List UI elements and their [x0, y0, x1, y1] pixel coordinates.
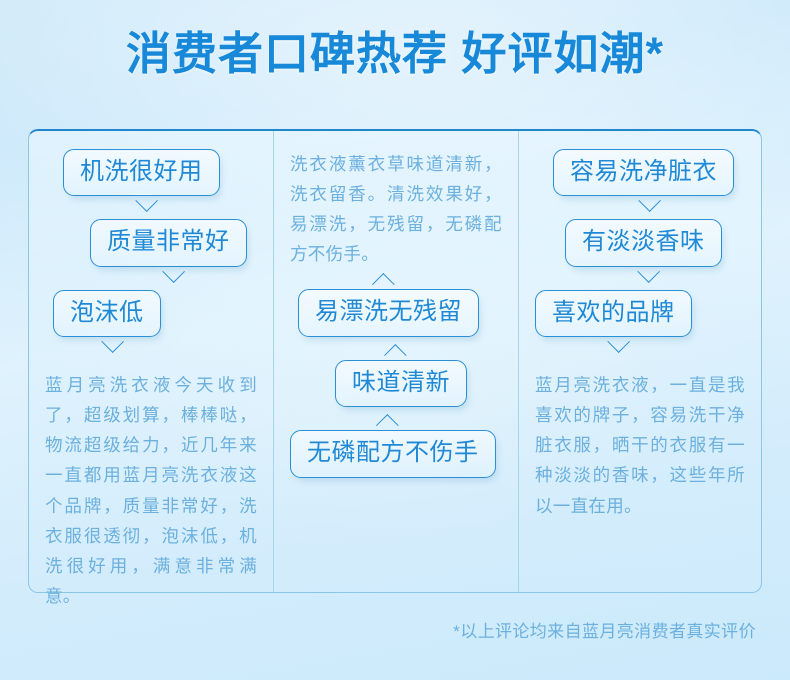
- footnote-disclaimer: *以上评论均来自蓝月亮消费者真实评价: [453, 617, 756, 642]
- page-title: 消费者口碑热荐 好评如潮*: [0, 0, 790, 82]
- review-tag-bubble[interactable]: 味道清新: [335, 360, 467, 407]
- reviews-panel: 机洗很好用 质量非常好 泡沫低 蓝月亮洗衣液今天收到了，超级划算，棒棒哒，物流超…: [28, 129, 762, 593]
- review-paragraph: 蓝月亮洗衣液，一直是我喜欢的牌子，容易洗干净脏衣服，晒干的衣服有一种淡淡的香味，…: [535, 370, 745, 520]
- review-paragraph: 洗衣液薰衣草味道清新，洗衣留香。清洗效果好，易漂洗，无残留，无磷配方不伤手。: [290, 149, 502, 269]
- review-tag-bubble[interactable]: 无磷配方不伤手: [290, 430, 496, 477]
- review-tag-bubble[interactable]: 喜欢的品牌: [535, 290, 692, 337]
- review-paragraph: 蓝月亮洗衣液今天收到了，超级划算，棒棒哒，物流超级给力，近几年来一直都用蓝月亮洗…: [45, 370, 257, 611]
- review-tag-bubble[interactable]: 机洗很好用: [63, 149, 220, 196]
- review-tag-bubble[interactable]: 易漂洗无残留: [298, 289, 479, 336]
- review-tag-bubble[interactable]: 有淡淡香味: [565, 219, 722, 266]
- review-column-right: 容易洗净脏衣 有淡淡香味 喜欢的品牌 蓝月亮洗衣液，一直是我喜欢的牌子，容易洗干…: [519, 131, 761, 592]
- review-column-middle: 洗衣液薰衣草味道清新，洗衣留香。清洗效果好，易漂洗，无残留，无磷配方不伤手。 易…: [273, 131, 519, 592]
- review-column-left: 机洗很好用 质量非常好 泡沫低 蓝月亮洗衣液今天收到了，超级划算，棒棒哒，物流超…: [29, 131, 273, 592]
- review-tag-bubble[interactable]: 容易洗净脏衣: [553, 149, 734, 196]
- review-tag-bubble[interactable]: 质量非常好: [90, 219, 247, 266]
- review-tag-bubble[interactable]: 泡沫低: [53, 290, 161, 337]
